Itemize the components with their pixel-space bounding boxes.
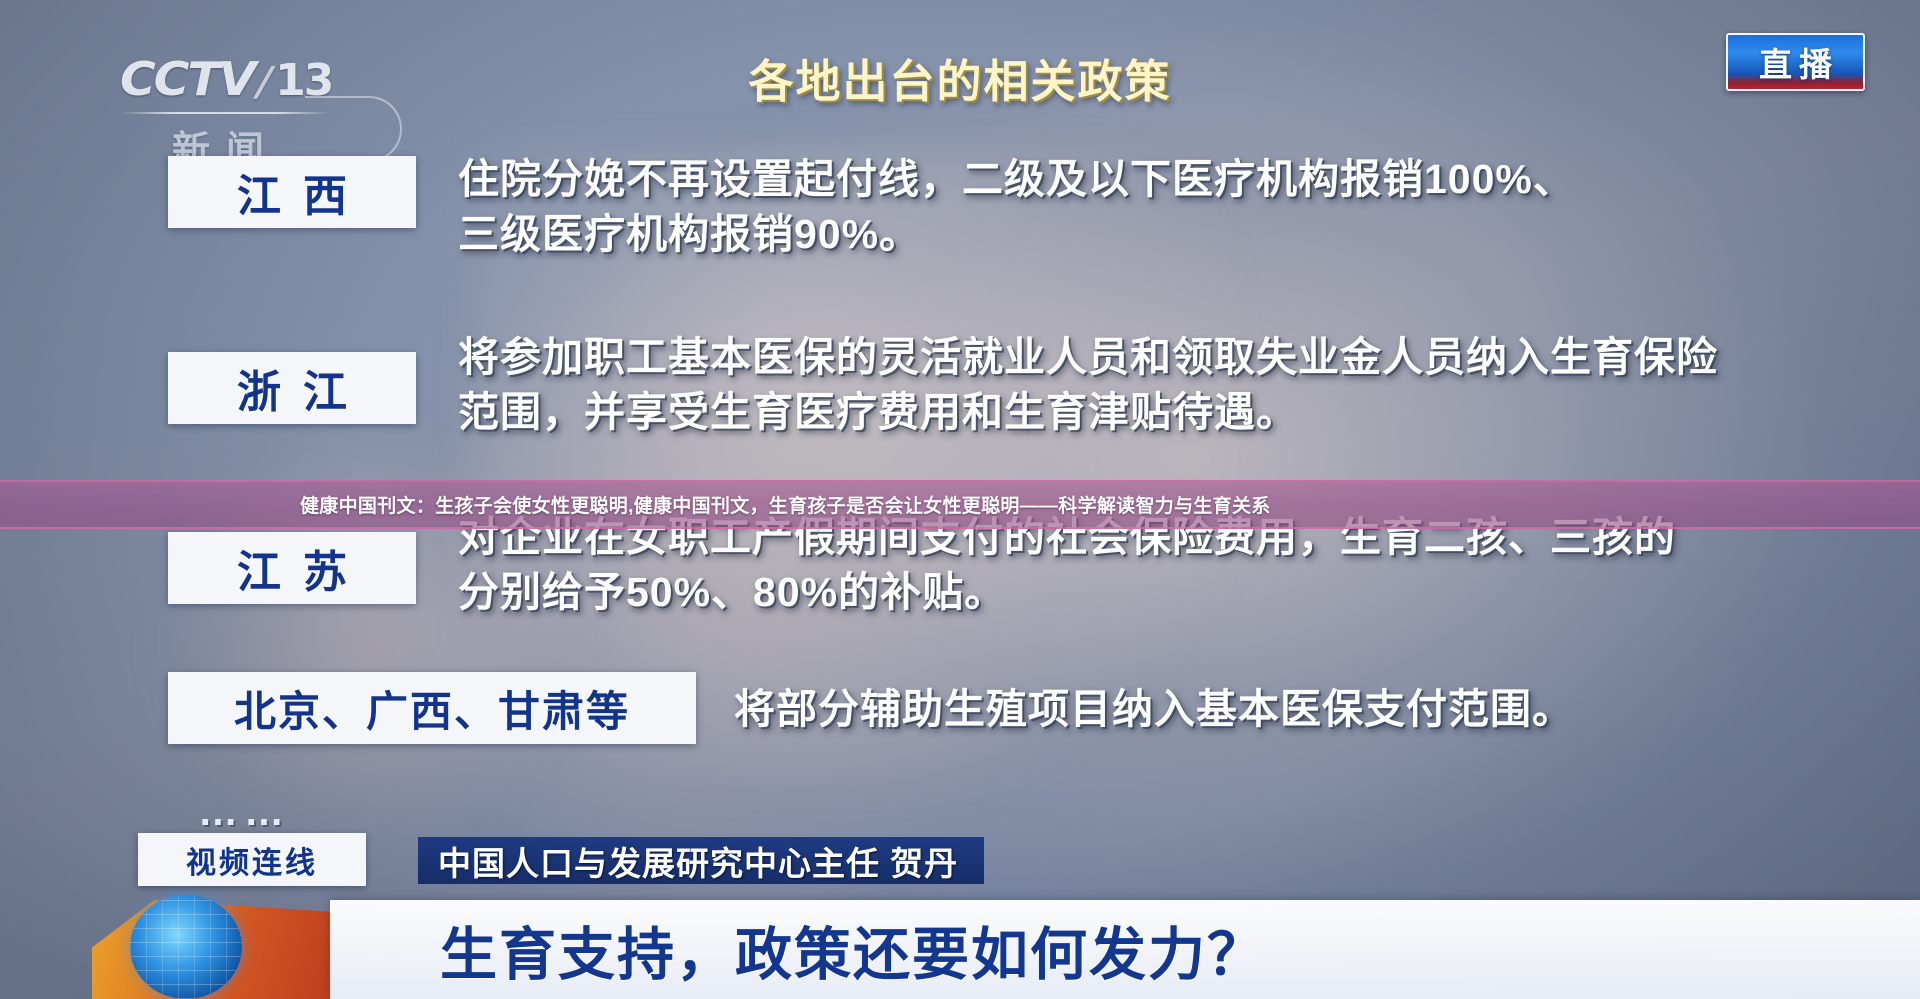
guest-title-bar: 中国人口与发展研究中心主任 贺丹 bbox=[418, 837, 984, 884]
policy-row-jiangxi: 江西 住院分娩不再设置起付线，二级及以下医疗机构报销100%、 三级医疗机构报销… bbox=[168, 152, 1575, 262]
logo-underline bbox=[120, 112, 330, 114]
video-link-badge: 视频连线 bbox=[138, 833, 366, 886]
region-label-jiangsu: 江苏 bbox=[168, 532, 416, 604]
region-label-other-regions: 北京、广西、甘肃等 bbox=[168, 672, 696, 744]
lower-third-headline-bar: 生育支持，政策还要如何发力？ bbox=[330, 900, 1920, 999]
broadcast-screenshot: CCTV / 13 新闻 直播 各地出台的相关政策 江西 住院分娩不再设置起付线… bbox=[0, 0, 1920, 999]
globe-icon bbox=[130, 895, 242, 999]
overlay-article-banner[interactable]: 健康中国刊文：生孩子会使女性更聪明,健康中国刊文，生育孩子是否会让女性更聪明——… bbox=[0, 480, 1920, 529]
more-policies-indicator: …… bbox=[198, 790, 290, 835]
overlay-article-banner-text: 健康中国刊文：生孩子会使女性更聪明,健康中国刊文，生育孩子是否会让女性更聪明——… bbox=[300, 491, 1271, 518]
policy-text-zhejiang: 将参加职工基本医保的灵活就业人员和领取失业金人员纳入生育保险 范围，并享受生育医… bbox=[458, 330, 1718, 440]
lower-third-headline-text: 生育支持，政策还要如何发力？ bbox=[440, 909, 1266, 991]
policy-row-zhejiang: 浙江 将参加职工基本医保的灵活就业人员和领取失业金人员纳入生育保险 范围，并享受… bbox=[168, 330, 1718, 440]
region-label-zhejiang: 浙江 bbox=[168, 352, 416, 424]
policy-text-other-regions: 将部分辅助生殖项目纳入基本医保支付范围。 bbox=[734, 682, 1574, 737]
policy-row-other-regions: 北京、广西、甘肃等 将部分辅助生殖项目纳入基本医保支付范围。 bbox=[168, 672, 1574, 744]
policy-text-jiangxi: 住院分娩不再设置起付线，二级及以下医疗机构报销100%、 三级医疗机构报销90%… bbox=[458, 152, 1575, 262]
page-title: 各地出台的相关政策 bbox=[0, 45, 1920, 110]
region-label-jiangxi: 江西 bbox=[168, 156, 416, 228]
